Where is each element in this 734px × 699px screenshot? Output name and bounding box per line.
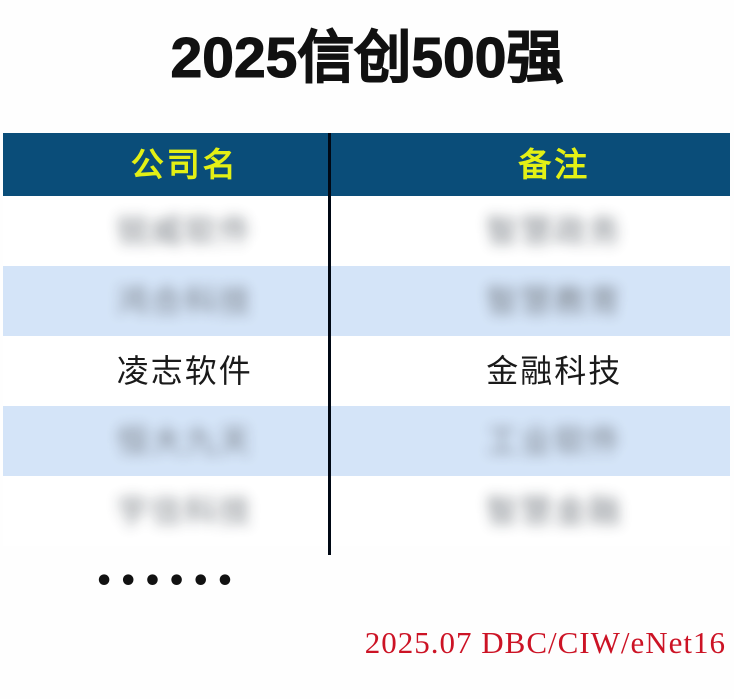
table-row: 鸿合科技 智慧教育 <box>3 266 730 336</box>
column-divider <box>328 133 331 555</box>
cell-company: 鸿合科技 <box>3 266 373 336</box>
cell-company: 宇信科技 <box>3 476 373 546</box>
table-row: 凌志软件 金融科技 <box>3 336 730 406</box>
column-header-note: 备注 <box>373 133 734 196</box>
cell-note: 智慧教育 <box>373 266 734 336</box>
cell-note: 智慧金融 <box>373 476 734 546</box>
truncation-ellipsis: •••••• <box>3 562 331 602</box>
cell-company: 凌志软件 <box>3 336 373 406</box>
cell-note: 金融科技 <box>373 336 734 406</box>
table-row: 恒大九天 工业软件 <box>3 406 730 476</box>
cell-note: 工业软件 <box>373 406 734 476</box>
cell-company: 锐威软件 <box>3 196 373 266</box>
table-row: 锐威软件 智慧政务 <box>3 196 730 266</box>
table-row: 宇信科技 智慧金融 <box>3 476 730 546</box>
table-header-row: 公司名 备注 <box>3 133 730 196</box>
page-title: 2025信创500强 <box>0 22 734 94</box>
cell-company: 恒大九天 <box>3 406 373 476</box>
column-header-company: 公司名 <box>3 133 373 196</box>
footer-credit: 2025.07 DBC/CIW/eNet16 <box>365 622 726 664</box>
cell-note: 智慧政务 <box>373 196 734 266</box>
ranking-table: 公司名 备注 锐威软件 智慧政务 鸿合科技 智慧教育 凌志软件 金融科技 恒大九… <box>3 133 730 546</box>
